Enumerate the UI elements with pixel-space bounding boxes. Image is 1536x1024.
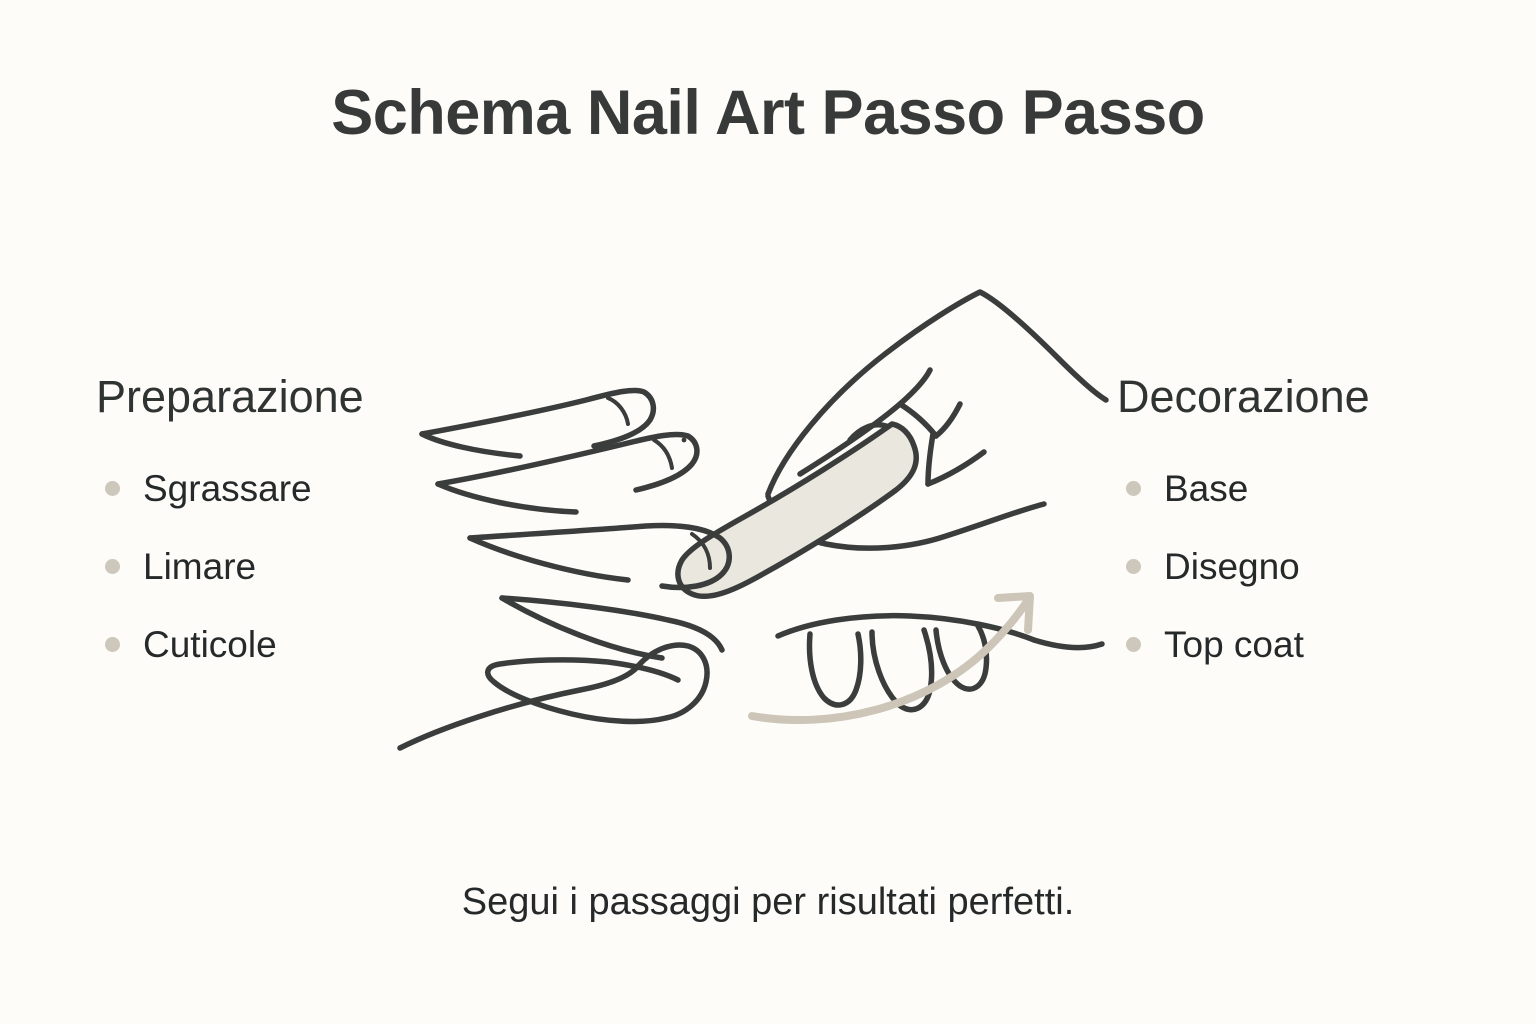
- column-decorazione: Decorazione Base Disegno Top coat: [1117, 374, 1487, 683]
- bullet-dot-icon: [105, 481, 120, 496]
- caption-text: Segui i passaggi per risultati perfetti.: [0, 880, 1536, 926]
- bullet-dot-icon: [105, 637, 120, 652]
- list-item-label: Cuticole: [143, 626, 277, 663]
- hands-illustration-svg: [380, 238, 1140, 778]
- list-item: Base: [1117, 449, 1487, 527]
- list-item-label: Disegno: [1164, 548, 1300, 585]
- bullet-dot-icon: [105, 559, 120, 574]
- list-item-label: Top coat: [1164, 626, 1304, 663]
- list-item: Disegno: [1117, 527, 1487, 605]
- hands-illustration: [380, 238, 1140, 778]
- left-hand-fingers: [422, 390, 729, 658]
- bullet-list-right: Base Disegno Top coat: [1117, 449, 1487, 683]
- column-heading-right: Decorazione: [1117, 374, 1487, 419]
- list-item-label: Sgrassare: [143, 470, 312, 507]
- page-title: Schema Nail Art Passo Passo: [0, 80, 1536, 146]
- poster-canvas: Schema Nail Art Passo Passo Preparazione…: [0, 0, 1536, 1024]
- list-item: Top coat: [1117, 605, 1487, 683]
- list-item-label: Limare: [143, 548, 256, 585]
- nail-file: [678, 424, 916, 596]
- list-item-label: Base: [1164, 470, 1248, 507]
